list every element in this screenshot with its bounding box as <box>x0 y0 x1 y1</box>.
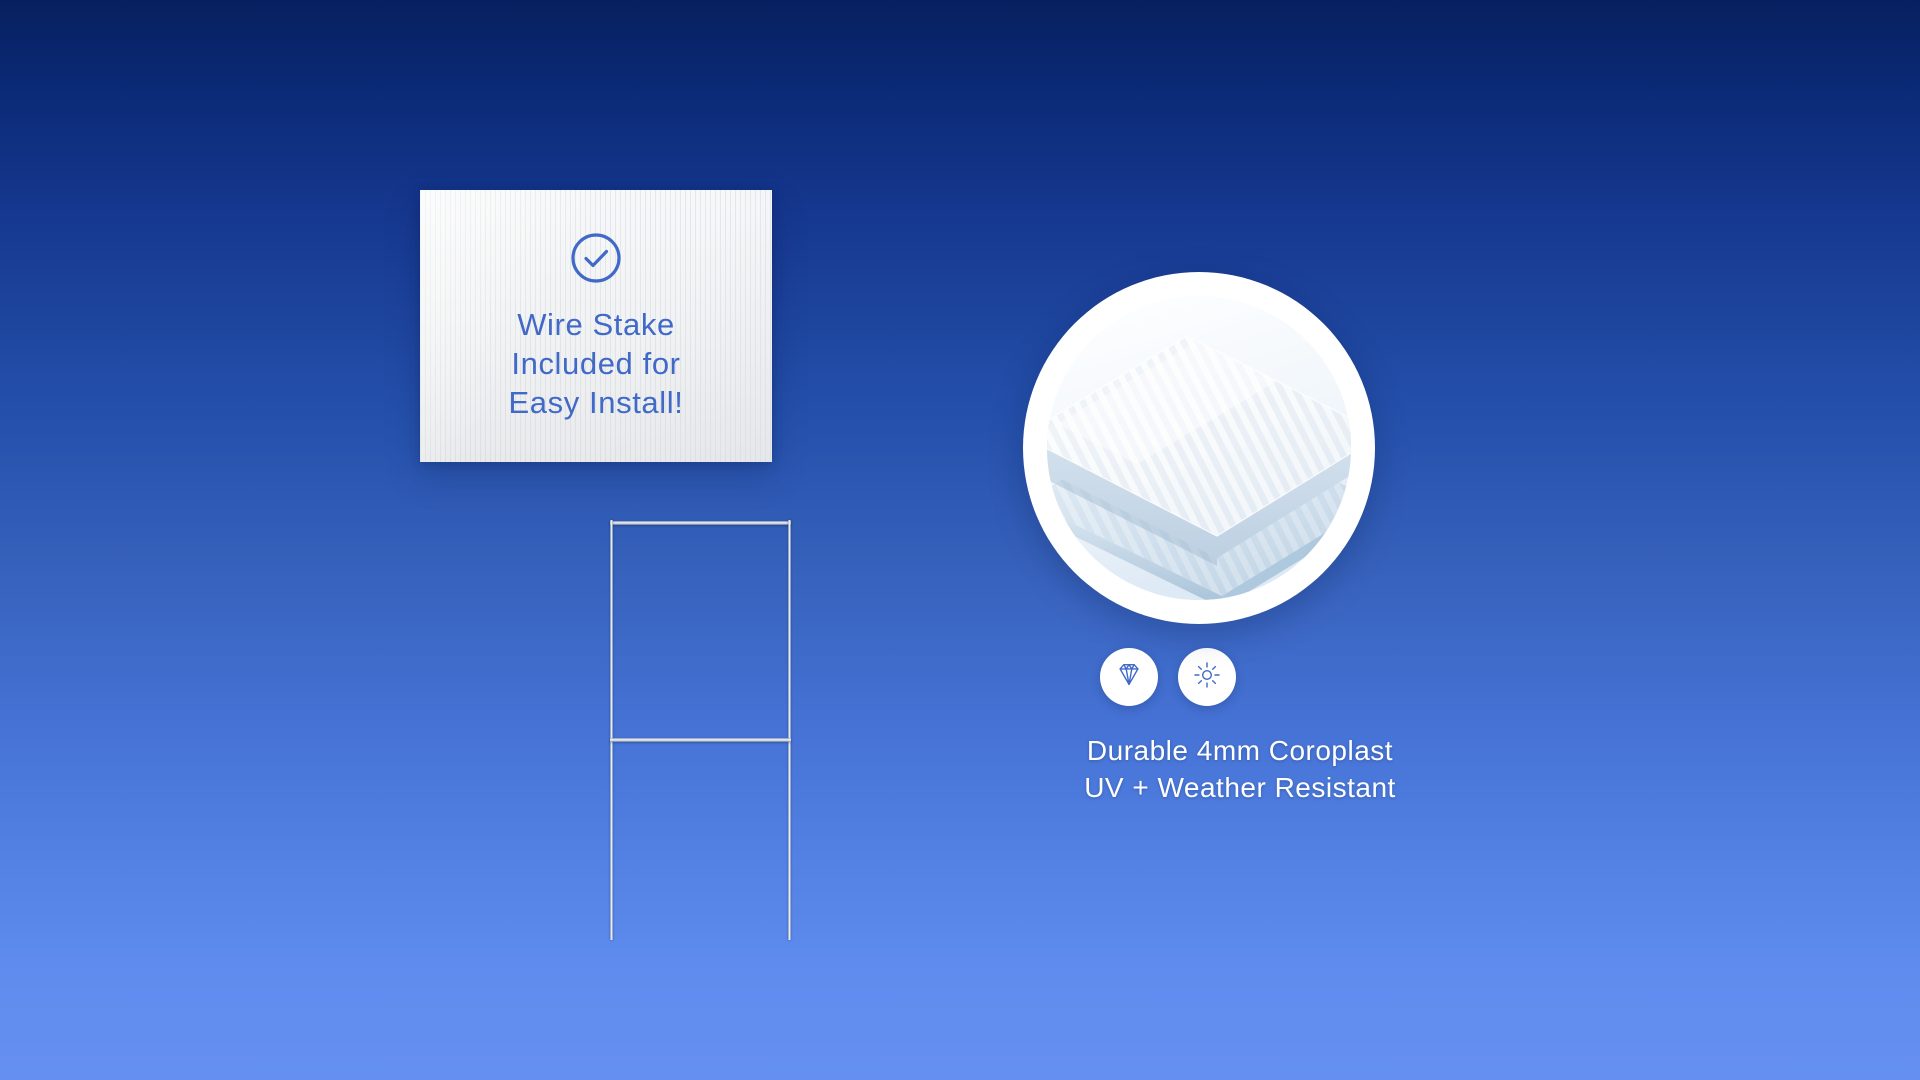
stake-middle-bar <box>610 738 791 742</box>
circle-check-icon <box>568 230 624 291</box>
stake-leg-right <box>788 520 791 940</box>
wire-h-stake <box>610 520 830 940</box>
product-feature-banner: Wire Stake Included for Easy Install! <box>0 0 1920 1080</box>
diamond-icon <box>1114 660 1144 695</box>
feature-caption: Durable 4mm Coroplast UV + Weather Resis… <box>1010 732 1470 806</box>
sun-icon <box>1192 660 1222 695</box>
yard-sign-group: Wire Stake Included for Easy Install! <box>0 0 1920 1080</box>
material-feature-column: Durable 4mm Coroplast UV + Weather Resis… <box>1010 272 1470 806</box>
feature-badge-row <box>1100 648 1470 706</box>
badge-durable <box>1100 648 1158 706</box>
stake-top-bar <box>610 521 791 525</box>
badge-uv-resistant <box>1178 648 1236 706</box>
sign-headline: Wire Stake Included for Easy Install! <box>509 305 684 422</box>
stake-leg-left <box>610 520 613 940</box>
yard-sign-panel: Wire Stake Included for Easy Install! <box>420 190 772 462</box>
coroplast-closeup-photo <box>1023 272 1375 624</box>
